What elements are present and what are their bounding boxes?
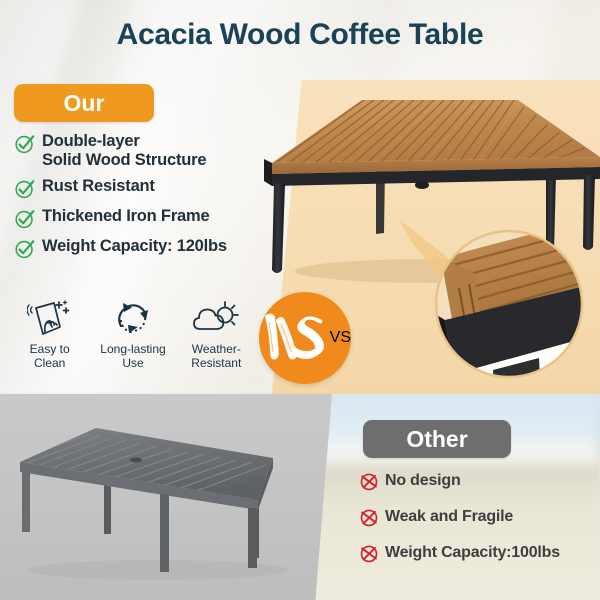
pro-item: Thickened Iron Frame	[14, 207, 264, 230]
con-label: Weight Capacity:100lbs	[385, 544, 560, 562]
other-badge: Other	[363, 420, 511, 458]
con-label: No design	[385, 472, 461, 490]
versus-text: VS	[330, 329, 351, 347]
feature-icon-label: Easy to Clean	[30, 343, 70, 370]
infographic-canvas: Acacia Wood Coffee Table Our Double-laye…	[0, 0, 600, 600]
con-item: No design	[358, 470, 598, 492]
cloud-sun-weather-icon	[190, 296, 242, 342]
pro-label: Weight Capacity: 120lbs	[42, 237, 227, 256]
cross-circle-icon	[358, 506, 380, 528]
check-circle-icon	[14, 178, 36, 200]
pro-item: Weight Capacity: 120lbs	[14, 237, 264, 260]
cycle-arrows-icon	[112, 296, 154, 342]
feature-icon-item: Easy to Clean	[8, 296, 91, 370]
pros-list: Double-layer Solid Wood Structure Rust R…	[14, 132, 264, 267]
other-panel-gray	[0, 394, 332, 600]
our-badge-label: Our	[64, 90, 105, 117]
pro-label: Double-layer Solid Wood Structure	[42, 132, 206, 170]
con-label: Weak and Fragile	[385, 508, 513, 526]
versus-badge: VS	[259, 292, 351, 384]
feature-icon-label: Long-lasting Use	[100, 343, 165, 370]
con-item: Weak and Fragile	[358, 506, 598, 528]
feature-icon-item: Weather- Resistant	[175, 296, 258, 370]
feature-icon-label: Weather- Resistant	[191, 343, 241, 370]
page-title: Acacia Wood Coffee Table	[0, 18, 600, 52]
check-circle-icon	[14, 208, 36, 230]
pro-item: Rust Resistant	[14, 177, 264, 200]
pro-label: Thickened Iron Frame	[42, 207, 209, 226]
versus-label-art	[259, 307, 330, 369]
check-circle-icon	[14, 133, 36, 155]
pro-item: Double-layer Solid Wood Structure	[14, 132, 264, 170]
cross-circle-icon	[358, 542, 380, 564]
feature-icon-row: Easy to Clean Long-lasting Use	[8, 296, 258, 370]
our-badge: Our	[14, 84, 154, 122]
feature-icon-item: Long-lasting Use	[91, 296, 174, 370]
other-badge-label: Other	[406, 426, 467, 453]
con-item: Weight Capacity:100lbs	[358, 542, 598, 564]
pro-label: Rust Resistant	[42, 177, 155, 196]
check-circle-icon	[14, 238, 36, 260]
cons-list: No design Weak and Fragile Weight Capaci…	[358, 470, 598, 578]
cross-circle-icon	[358, 470, 380, 492]
wipe-clean-icon	[27, 296, 73, 342]
